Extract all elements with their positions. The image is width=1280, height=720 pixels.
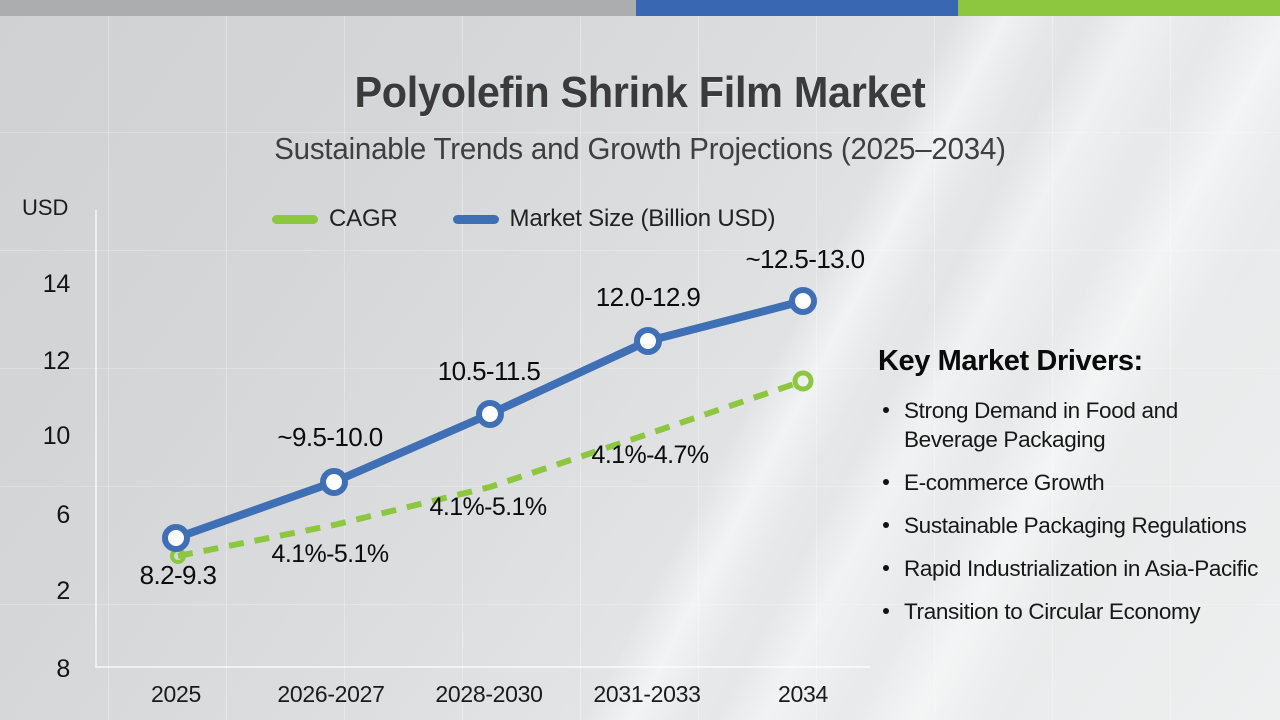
key-market-drivers-list: Strong Demand in Food and Beverage Packa… [878, 396, 1270, 626]
plot-area-frame [95, 210, 870, 668]
topbar-segment-blue [636, 0, 958, 16]
market-size-value-label-3: 12.0-12.9 [596, 282, 700, 313]
x-axis-tick-0: 2025 [151, 681, 201, 708]
key-market-drivers-title: Key Market Drivers: [878, 345, 1270, 378]
top-color-bar [0, 0, 1280, 16]
cagr-value-label-2: 4.1%-4.7% [592, 441, 709, 470]
y-axis-tick-0: 14 [0, 270, 70, 299]
bullet-icon [883, 479, 889, 485]
x-axis-tick-2: 2028-2030 [435, 681, 542, 708]
key-market-driver-item: Transition to Circular Economy [878, 597, 1270, 626]
bullet-icon [883, 565, 889, 571]
key-market-driver-item: E-commerce Growth [878, 468, 1270, 497]
x-axis-tick-1: 2026-2027 [277, 681, 384, 708]
key-market-driver-label: E-commerce Growth [904, 470, 1104, 495]
y-axis-caption: USD [22, 195, 68, 221]
key-market-drivers-panel: Key Market Drivers: Strong Demand in Foo… [878, 345, 1270, 640]
key-market-driver-label: Strong Demand in Food and Beverage Packa… [904, 398, 1178, 452]
key-market-driver-item: Rapid Industrialization in Asia-Pacific [878, 554, 1270, 583]
market-size-value-label-1: ~9.5-10.0 [277, 422, 382, 453]
key-market-driver-label: Sustainable Packaging Regulations [904, 513, 1246, 538]
x-axis-tick-4: 2034 [778, 681, 828, 708]
infographic-slide: Polyolefin Shrink Film Market Sustainabl… [0, 0, 1280, 720]
y-axis-tick-4: 2 [0, 577, 70, 606]
market-size-value-label-2: 10.5-11.5 [438, 356, 541, 387]
x-axis-tick-3: 2031-2033 [593, 681, 700, 708]
y-axis-tick-1: 12 [0, 347, 70, 376]
key-market-driver-item: Sustainable Packaging Regulations [878, 511, 1270, 540]
cagr-value-label-0: 4.1%-5.1% [272, 540, 389, 569]
y-axis-tick-2: 10 [0, 422, 70, 451]
cagr-value-label-1: 4.1%-5.1% [430, 493, 547, 522]
key-market-driver-item: Strong Demand in Food and Beverage Packa… [878, 396, 1270, 454]
key-market-driver-label: Rapid Industrialization in Asia-Pacific [904, 556, 1258, 581]
market-size-value-label-0: 8.2-9.3 [140, 560, 217, 591]
y-axis-tick-5: 8 [0, 655, 70, 684]
bullet-icon [883, 522, 889, 528]
topbar-segment-gray [0, 0, 636, 16]
key-market-driver-label: Transition to Circular Economy [904, 599, 1200, 624]
topbar-segment-green [958, 0, 1280, 16]
bullet-icon [883, 608, 889, 614]
market-size-value-label-4: ~12.5-13.0 [745, 244, 864, 275]
page-title: Polyolefin Shrink Film Market [38, 68, 1241, 118]
y-axis-tick-3: 6 [0, 501, 70, 530]
page-subtitle: Sustainable Trends and Growth Projection… [32, 131, 1248, 167]
bullet-icon [883, 407, 889, 413]
